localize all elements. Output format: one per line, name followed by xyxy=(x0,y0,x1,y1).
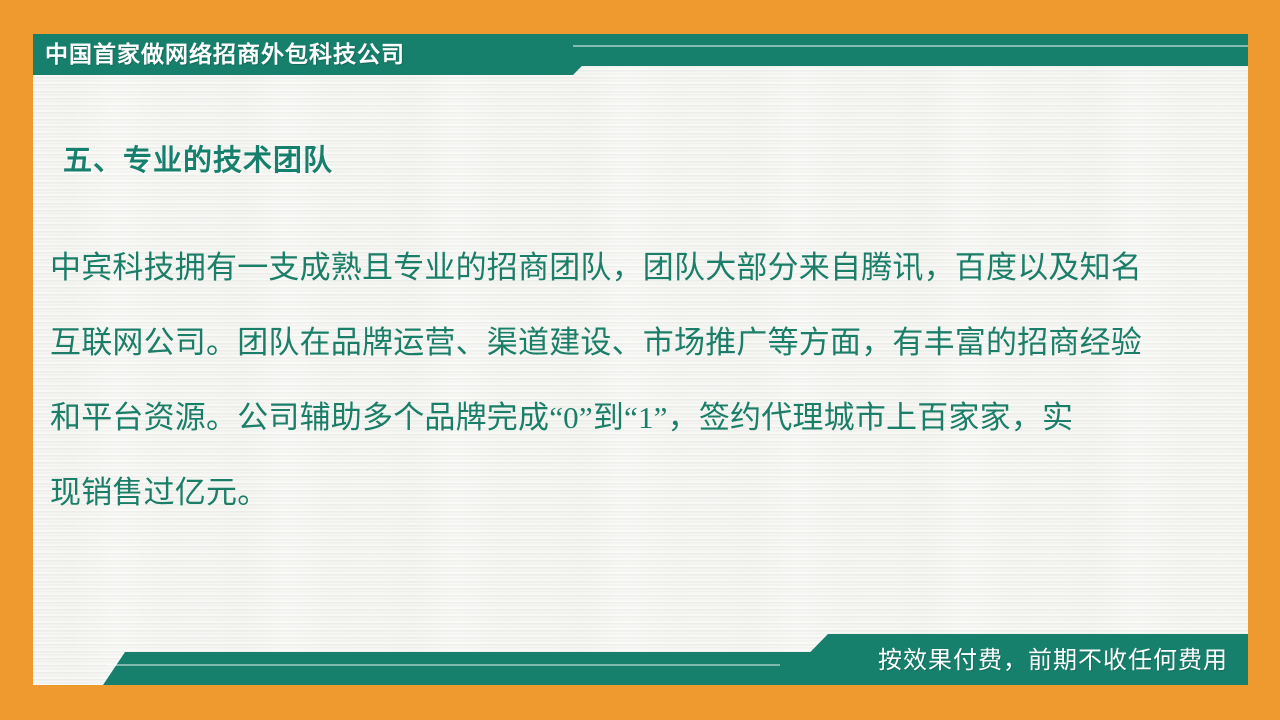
header-title: 中国首家做网络招商外包科技公司 xyxy=(45,37,405,71)
body-line: 现销售过亿元。 xyxy=(50,455,1195,530)
body-line: 互联网公司。团队在品牌运营、渠道建设、市场推广等方面，有丰富的招商经验 xyxy=(50,305,1195,380)
slide-canvas: 中国首家做网络招商外包科技公司 五、专业的技术团队 中宾科技拥有一支成熟且专业的… xyxy=(0,0,1280,720)
footer-slogan: 按效果付费，前期不收任何费用 xyxy=(878,642,1228,680)
slide-header: 中国首家做网络招商外包科技公司 xyxy=(33,34,1248,76)
section-heading: 五、专业的技术团队 xyxy=(63,137,333,179)
slide-content-area: 中国首家做网络招商外包科技公司 五、专业的技术团队 中宾科技拥有一支成熟且专业的… xyxy=(33,34,1248,685)
slide-footer: 按效果付费，前期不收任何费用 xyxy=(33,625,1248,685)
body-paragraph: 中宾科技拥有一支成熟且专业的招商团队，团队大部分来自腾讯，百度以及知名 互联网公… xyxy=(50,230,1195,530)
footer-hairline-divider xyxy=(108,664,780,666)
header-hairline-divider xyxy=(573,45,1248,47)
body-line: 中宾科技拥有一支成熟且专业的招商团队，团队大部分来自腾讯，百度以及知名 xyxy=(50,230,1195,305)
body-line: 和平台资源。公司辅助多个品牌完成“0”到“1”，签约代理城市上百家家，实 xyxy=(50,380,1195,455)
